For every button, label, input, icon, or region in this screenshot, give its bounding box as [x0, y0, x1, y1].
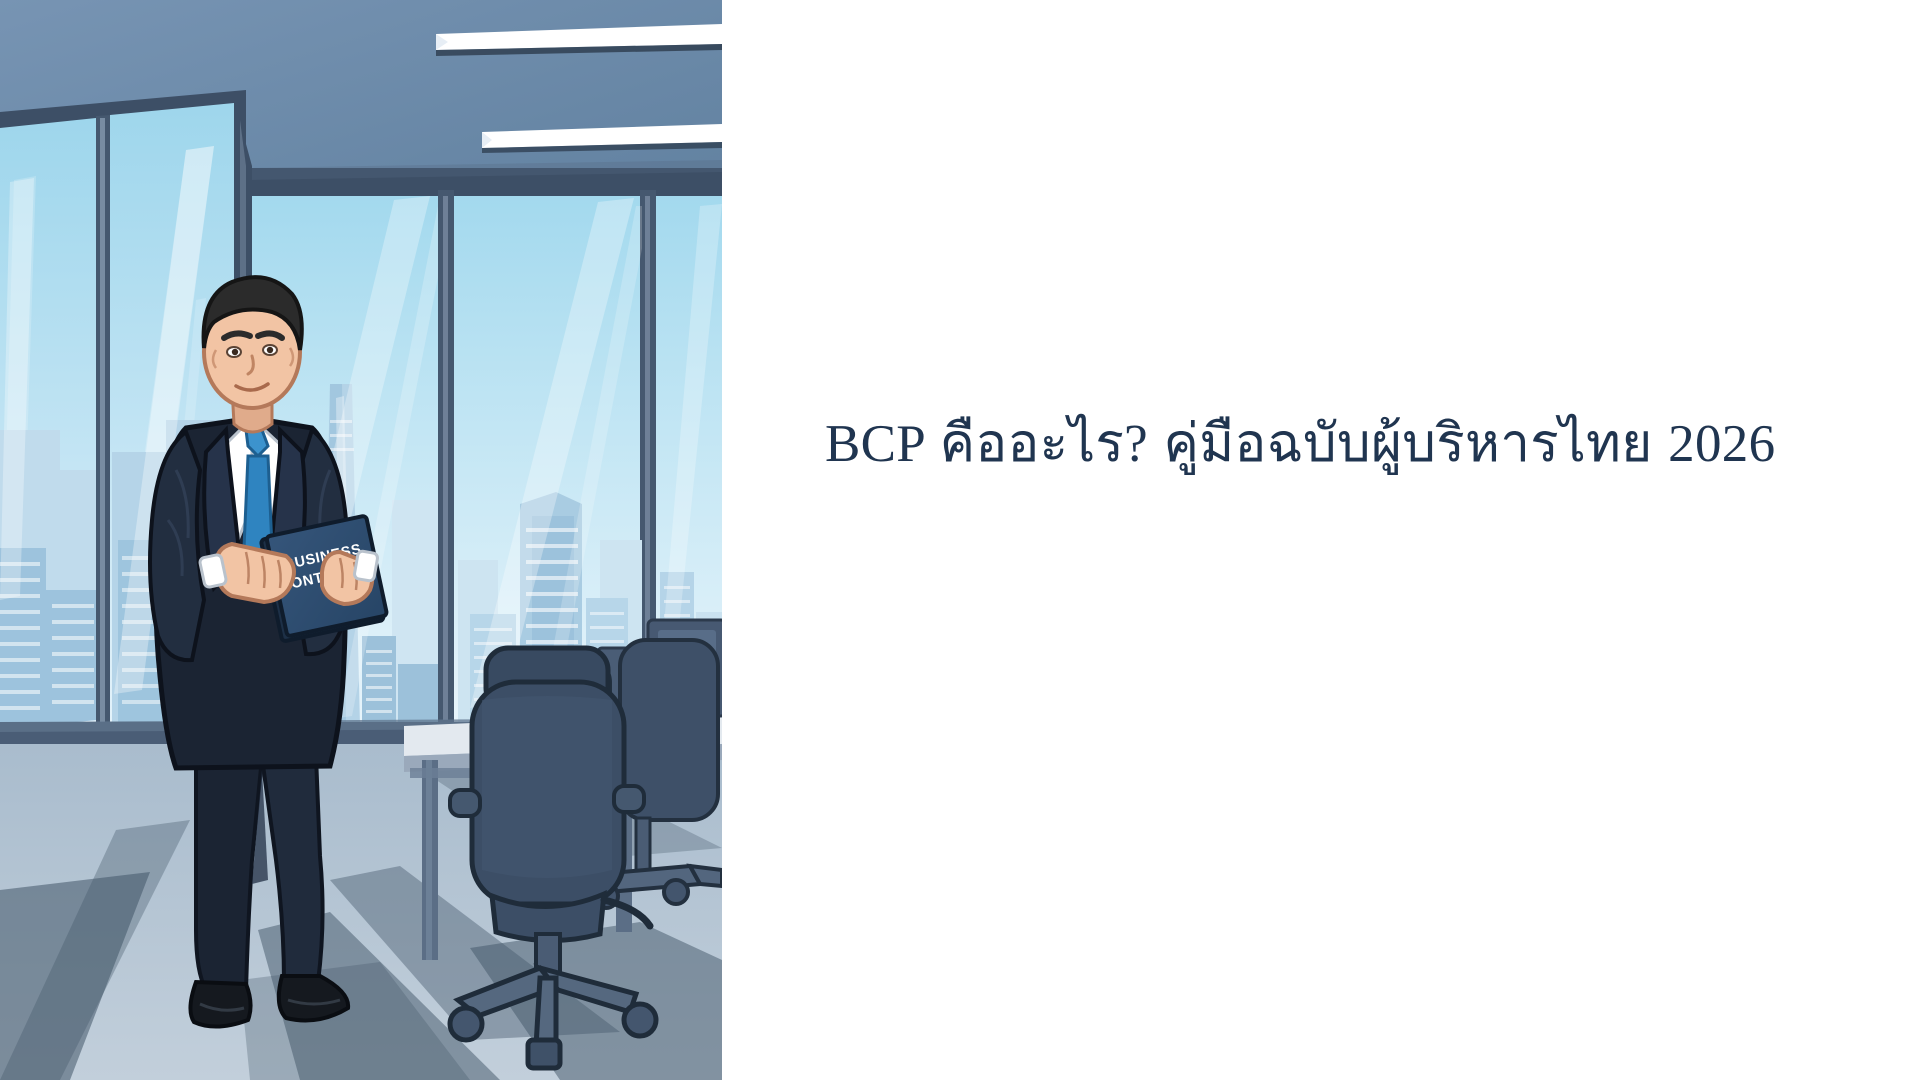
chair-caster [624, 1004, 656, 1036]
office-scene-graphic: BUSINESS CONTINUITY [0, 0, 722, 1080]
chair-caster [528, 1040, 560, 1068]
hero-illustration: BUSINESS CONTINUITY [0, 0, 722, 1080]
text-panel: BCP คืออะไร? คู่มือฉบับผู้บริหารไทย 2026 [722, 0, 1920, 1080]
shirt-cuff-left [199, 554, 227, 588]
page-root: BUSINESS CONTINUITY [0, 0, 1920, 1080]
shirt-cuff-right [354, 550, 379, 581]
chair-caster [450, 1008, 482, 1040]
shoe-left [190, 982, 250, 1027]
page-title: BCP คืออะไร? คู่มือฉบับผู้บริหารไทย 2026 [825, 396, 1825, 493]
